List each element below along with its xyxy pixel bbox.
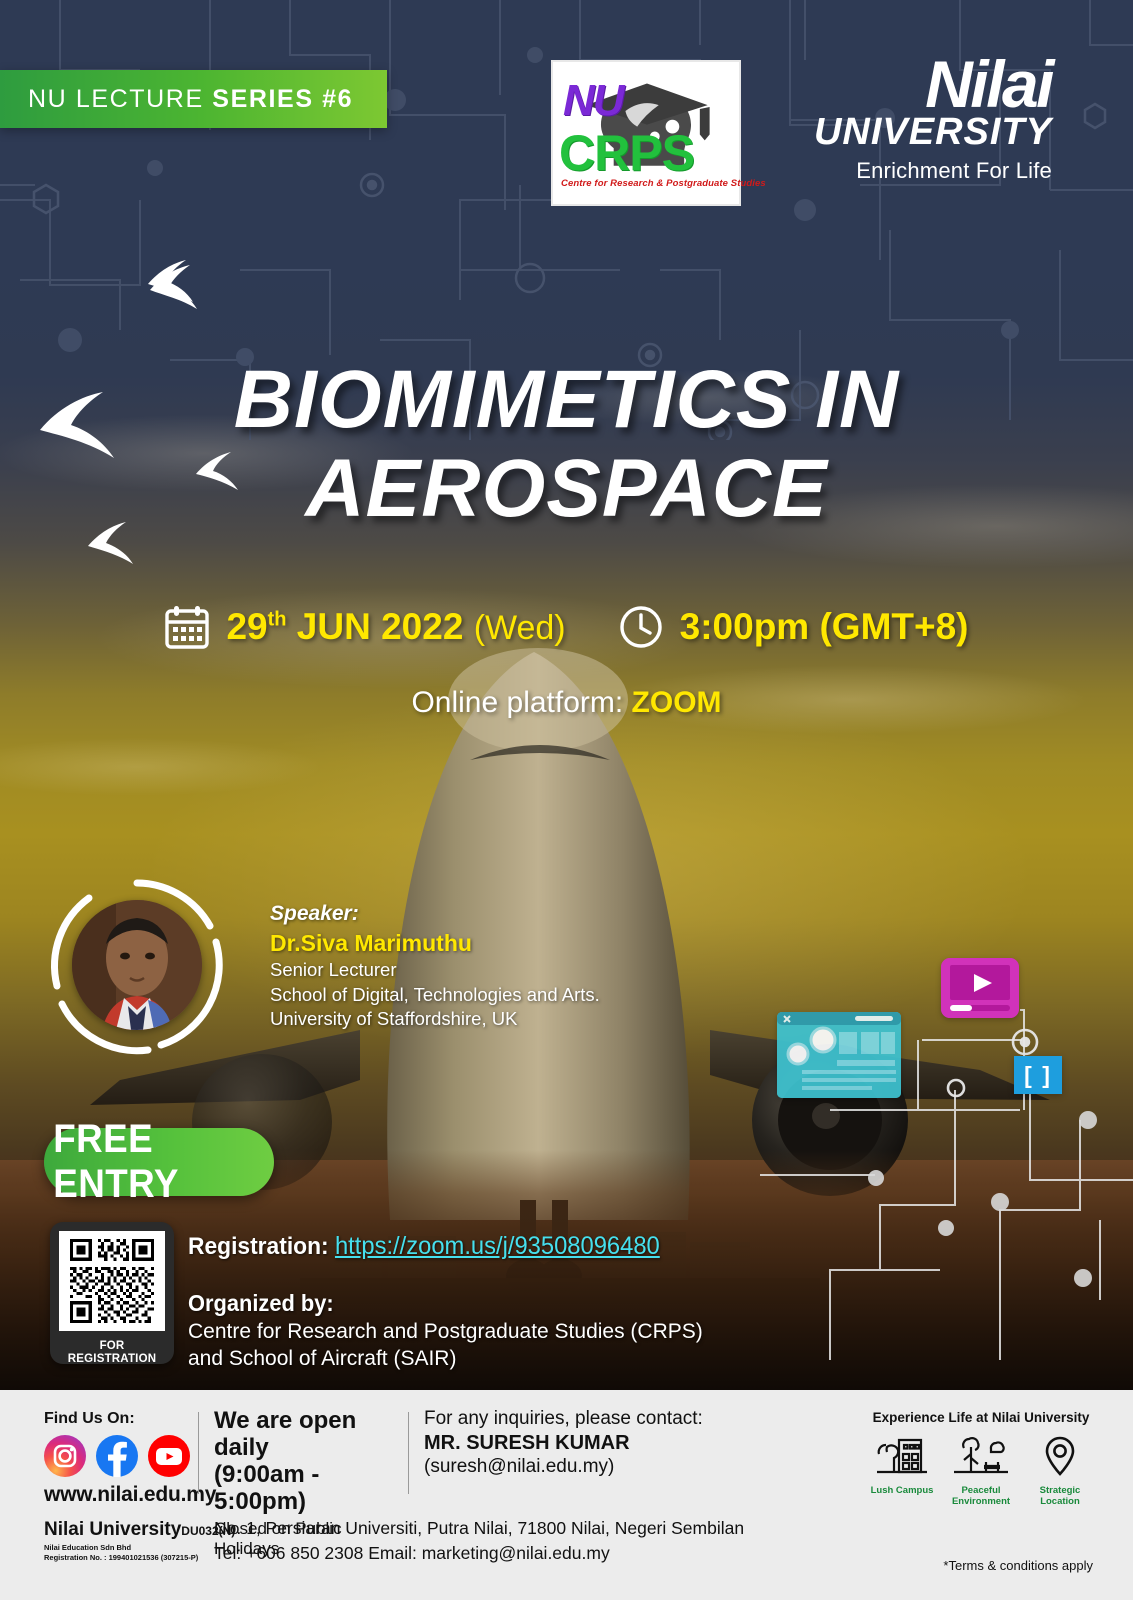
experience-item-lush-campus: Lush Campus (866, 1434, 938, 1507)
title-line-2: AEROSPACE (0, 445, 1133, 534)
event-datetime-row: 29th JUN 2022 (Wed) 3:00pm (GMT+8) (0, 604, 1133, 650)
banner-bold-text: SERIES #6 (212, 85, 353, 113)
fineprint-line-1: Nilai Education Sdn Bhd (44, 1543, 235, 1553)
footer-divider-right (408, 1412, 409, 1494)
find-us-label: Find Us On: (44, 1410, 235, 1428)
campus-building-icon (871, 1434, 933, 1478)
find-us-block: Find Us On: (44, 1410, 235, 1563)
platform-line: Online platform: ZOOM (0, 686, 1133, 720)
poster-root: NU LECTURE SERIES #6 NU CRPS Centre for … (0, 0, 1133, 1600)
date-day: 29 (226, 606, 267, 647)
youtube-glyph (148, 1435, 190, 1477)
registration-row: Registration: https://zoom.us/j/93508096… (188, 1232, 660, 1261)
organizer-line-2: and School of Aircraft (SAIR) (188, 1345, 703, 1372)
speaker-details: Speaker: Dr.Siva Marimuthu Senior Lectur… (270, 902, 700, 1031)
banner-text: NU LECTURE SERIES #6 (28, 85, 353, 114)
qr-caption-line1: FOR (59, 1340, 165, 1353)
footer: Find Us On: (0, 1390, 1133, 1600)
open-line-2: (9:00am - 5:00pm) (214, 1462, 404, 1516)
calendar-icon (164, 604, 210, 650)
platform-label: Online platform: (411, 686, 631, 719)
footer-website[interactable]: www.nilai.edu.my (44, 1483, 235, 1507)
nilai-university-text: UNIVERSITY (790, 113, 1052, 151)
platform-name: ZOOM (632, 686, 722, 719)
code-brackets-text: [ ] (1024, 1062, 1052, 1089)
speaker-portrait (72, 900, 202, 1030)
event-time-text: 3:00pm (GMT+8) (680, 606, 969, 648)
speaker-school: School of Digital, Technologies and Arts… (270, 983, 700, 1007)
qr-caption-line2: REGISTRATION (59, 1353, 165, 1366)
crps-subtitle: Centre for Research & Postgraduate Studi… (561, 178, 766, 189)
video-player-graphic (941, 958, 1019, 1018)
nu-crps-logo: NU CRPS Centre for Research & Postgradua… (551, 60, 741, 206)
qr-code-icon[interactable] (59, 1231, 165, 1331)
organizer-label: Organized by: (188, 1290, 334, 1317)
poster-title: BIOMIMETICS IN AEROSPACE (0, 356, 1133, 533)
date-day-suffix: th (268, 609, 287, 631)
event-time: 3:00pm (GMT+8) (618, 604, 969, 650)
footer-uni-text: Nilai University (44, 1519, 181, 1540)
speaker-avatar (72, 900, 202, 1030)
organizer-line-1: Centre for Research and Postgraduate Stu… (188, 1318, 703, 1345)
date-day-of-week: (Wed) (474, 609, 566, 647)
contact-email[interactable]: (suresh@nilai.edu.my) (424, 1456, 703, 1478)
experience-items: Lush Campus Peaceful Environment (866, 1434, 1096, 1507)
fineprint-line-2: Registration No. : 199401021536 (307215-… (44, 1553, 235, 1563)
crps-nu-text: NU (563, 76, 623, 126)
date-month-year: JUN 2022 (287, 606, 474, 647)
tech-circuit-overlay (700, 940, 1133, 1360)
social-icons (44, 1435, 235, 1477)
park-tree-icon (950, 1434, 1012, 1478)
video-play-icon (941, 958, 1019, 1018)
terms-note: *Terms & conditions apply (943, 1558, 1093, 1573)
footer-university-name: Nilai UniversityDU032(N) (44, 1519, 235, 1541)
event-date-text: 29th JUN 2022 (Wed) (226, 606, 565, 648)
nilai-tagline: Enrichment For Life (790, 158, 1052, 184)
experience-label-1: Peaceful Environment (945, 1485, 1017, 1507)
contact-name: MR. SURESH KUMAR (424, 1432, 703, 1455)
location-pin-icon (1029, 1434, 1091, 1478)
nilai-university-logo: Nilai UNIVERSITY Enrichment For Life (790, 52, 1052, 204)
code-brackets-graphic: [ ] (1014, 1056, 1062, 1094)
speaker-university: University of Staffordshire, UK (270, 1007, 700, 1031)
address-line: No. 1, Persiaran Universiti, Putra Nilai… (214, 1516, 744, 1541)
experience-label-0: Lush Campus (866, 1485, 938, 1496)
free-entry-badge: FREE ENTRY (44, 1128, 274, 1196)
banner-light-text: NU LECTURE (28, 85, 212, 113)
speaker-label: Speaker: (270, 902, 700, 926)
footer-fineprint: Nilai Education Sdn Bhd Registration No.… (44, 1543, 235, 1563)
lecture-series-banner: NU LECTURE SERIES #6 (0, 70, 387, 128)
experience-item-peaceful-environment: Peaceful Environment (945, 1434, 1017, 1507)
experience-label-2: Strategic Location (1024, 1485, 1096, 1507)
qr-caption: FOR REGISTRATION (59, 1340, 165, 1366)
experience-block: Experience Life at Nilai University (866, 1410, 1096, 1507)
crps-crps-text: CRPS (559, 124, 694, 182)
title-line-1: BIOMIMETICS IN (234, 354, 899, 445)
youtube-icon[interactable] (148, 1435, 190, 1477)
registration-link[interactable]: https://zoom.us/j/93508096480 (335, 1232, 660, 1260)
nilai-wordmark: Nilai (790, 52, 1052, 117)
event-date: 29th JUN 2022 (Wed) (164, 604, 565, 650)
contact-block: For any inquiries, please contact: MR. S… (424, 1408, 703, 1478)
open-line-1: We are open daily (214, 1408, 404, 1462)
facebook-glyph (96, 1435, 138, 1477)
experience-title: Experience Life at Nilai University (866, 1410, 1096, 1425)
address-block: No. 1, Persiaran Universiti, Putra Nilai… (214, 1516, 744, 1567)
footer-divider-left (198, 1412, 199, 1494)
experience-item-strategic-location: Strategic Location (1024, 1434, 1096, 1507)
browser-window-graphic (777, 1012, 901, 1098)
browser-window-icon (777, 1012, 901, 1098)
organizer-body: Centre for Research and Postgraduate Stu… (188, 1318, 703, 1373)
free-entry-label: FREE ENTRY (53, 1117, 265, 1207)
speaker-role: Senior Lecturer (270, 958, 700, 982)
instagram-icon[interactable] (44, 1435, 86, 1477)
clock-icon (618, 604, 664, 650)
contact-intro: For any inquiries, please contact: (424, 1408, 703, 1430)
speaker-name: Dr.Siva Marimuthu (270, 930, 700, 957)
tel-email-line: Tel: +606 850 2308 Email: marketing@nila… (214, 1541, 744, 1566)
registration-label: Registration: (188, 1233, 335, 1260)
facebook-icon[interactable] (96, 1435, 138, 1477)
qr-registration-card[interactable]: FOR REGISTRATION (50, 1222, 174, 1364)
instagram-glyph (44, 1435, 86, 1477)
